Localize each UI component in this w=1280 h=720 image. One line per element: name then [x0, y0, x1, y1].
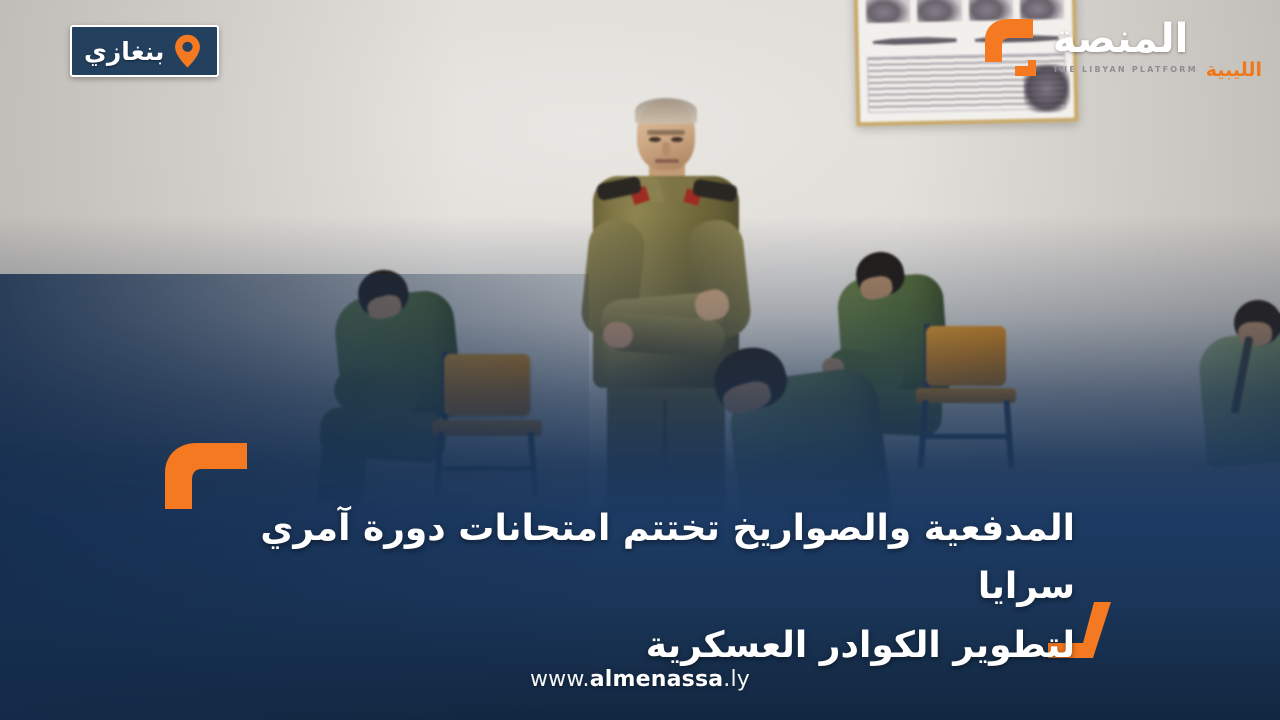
url-prefix: www.: [530, 667, 590, 692]
logo-wordmark: المنصة الليبية THE LIBYAN PLATFORM: [1053, 19, 1262, 80]
url-tld: .ly: [723, 667, 750, 692]
map-pin-icon: [174, 34, 201, 68]
site-logo[interactable]: المنصة الليبية THE LIBYAN PLATFORM: [975, 14, 1262, 84]
site-url[interactable]: www.almenassa.ly: [0, 667, 1280, 692]
headline-line-1: المدفعية والصواريخ تختتم امتحانات دورة آ…: [260, 508, 1075, 607]
logo-arabic-sub: الليبية: [1206, 61, 1262, 80]
location-label: بنغازي: [84, 39, 164, 64]
news-card: بنغازي المنصة الليبية THE LIBYAN PLATFOR…: [0, 0, 1280, 720]
logo-arabic-main: المنصة: [1053, 19, 1189, 59]
logo-subtitle-row: الليبية THE LIBYAN PLATFORM: [1053, 61, 1262, 80]
logo-hook-icon: [975, 14, 1047, 84]
headline: المدفعية والصواريخ تختتم امتحانات دورة آ…: [175, 500, 1075, 675]
location-badge[interactable]: بنغازي: [70, 25, 219, 77]
logo-english-tagline: THE LIBYAN PLATFORM: [1053, 66, 1198, 74]
url-name: almenassa: [590, 667, 724, 692]
